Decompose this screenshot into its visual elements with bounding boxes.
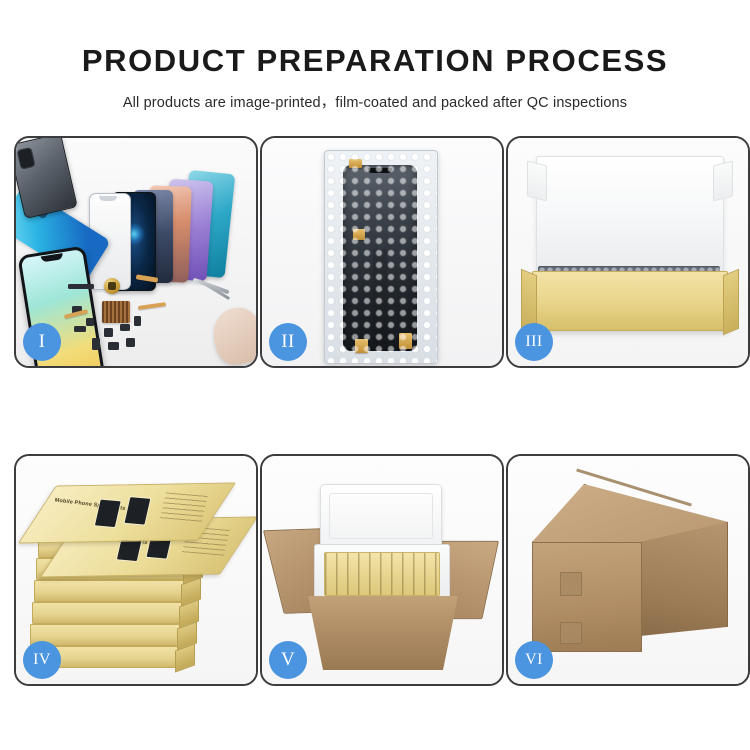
carton-body-icon xyxy=(308,596,458,670)
speaker-module-icon xyxy=(104,278,120,294)
page-subtitle: All products are image-printed，film-coat… xyxy=(0,78,750,112)
step-panel-3[interactable]: III xyxy=(506,136,750,368)
step-panel-6[interactable]: VI xyxy=(506,454,750,686)
process-steps-grid: I II xyxy=(14,136,738,688)
page-title: PRODUCT PREPARATION PROCESS xyxy=(0,0,750,78)
box-thumbnail-icon xyxy=(94,499,122,529)
component-chip-icon xyxy=(120,324,130,331)
yellow-box-base-icon xyxy=(532,271,728,331)
box-spec-lines xyxy=(160,492,208,521)
flex-cable-icon xyxy=(138,302,166,310)
box-stack-icon: Mobile Phone Spare Parts Mobile Phone Sp… xyxy=(22,478,248,670)
logic-board-icon xyxy=(102,301,130,323)
stacked-box-layer xyxy=(32,602,184,624)
component-chip-icon xyxy=(126,338,135,347)
gold-connector-icon xyxy=(349,159,362,168)
component-chip-icon xyxy=(86,318,94,326)
step-badge-6: VI xyxy=(515,641,553,679)
gold-connector-icon xyxy=(353,229,365,240)
step-panel-5[interactable]: V xyxy=(260,454,504,686)
component-chip-icon xyxy=(92,338,100,350)
lcd-screen-icon xyxy=(343,165,417,351)
box-lid-icon xyxy=(536,156,724,278)
step-badge-3: III xyxy=(515,323,553,361)
step-badge-5: V xyxy=(269,641,307,679)
step-panel-4[interactable]: Mobile Phone Spare Parts Mobile Phone Sp… xyxy=(14,454,258,686)
component-chip-icon xyxy=(68,284,94,289)
stacked-box-layer xyxy=(30,624,182,646)
step-badge-2: II xyxy=(269,323,307,361)
packing-tape-icon xyxy=(560,572,582,596)
bubble-wrap-bag-icon xyxy=(324,150,438,364)
phone-back-cover-icon xyxy=(16,138,78,219)
box-thumbnail-icon xyxy=(123,496,151,526)
component-chip-icon xyxy=(108,342,119,350)
yellow-boxes-inside-icon xyxy=(324,552,440,596)
product-preparation-infographic: PRODUCT PREPARATION PROCESS All products… xyxy=(0,0,750,750)
component-chip-icon xyxy=(104,328,113,337)
stacked-box-layer xyxy=(34,580,186,602)
step-badge-4: IV xyxy=(23,641,61,679)
step-badge-1: I xyxy=(23,323,61,361)
screen-ribbon-icon xyxy=(373,249,387,345)
carton-side-face-icon xyxy=(640,522,728,636)
carton-front-face-icon xyxy=(532,542,642,652)
gold-connector-icon xyxy=(355,339,368,353)
step-panel-1[interactable]: I xyxy=(14,136,258,368)
gold-connector-icon xyxy=(399,333,412,349)
packing-tape-icon xyxy=(560,622,582,644)
component-chip-icon xyxy=(74,326,86,332)
hand-icon xyxy=(209,304,256,366)
component-chip-icon xyxy=(134,316,141,326)
step-panel-2[interactable]: II xyxy=(260,136,504,368)
header: PRODUCT PREPARATION PROCESS All products… xyxy=(0,0,750,112)
styrofoam-lid-icon xyxy=(320,484,442,548)
